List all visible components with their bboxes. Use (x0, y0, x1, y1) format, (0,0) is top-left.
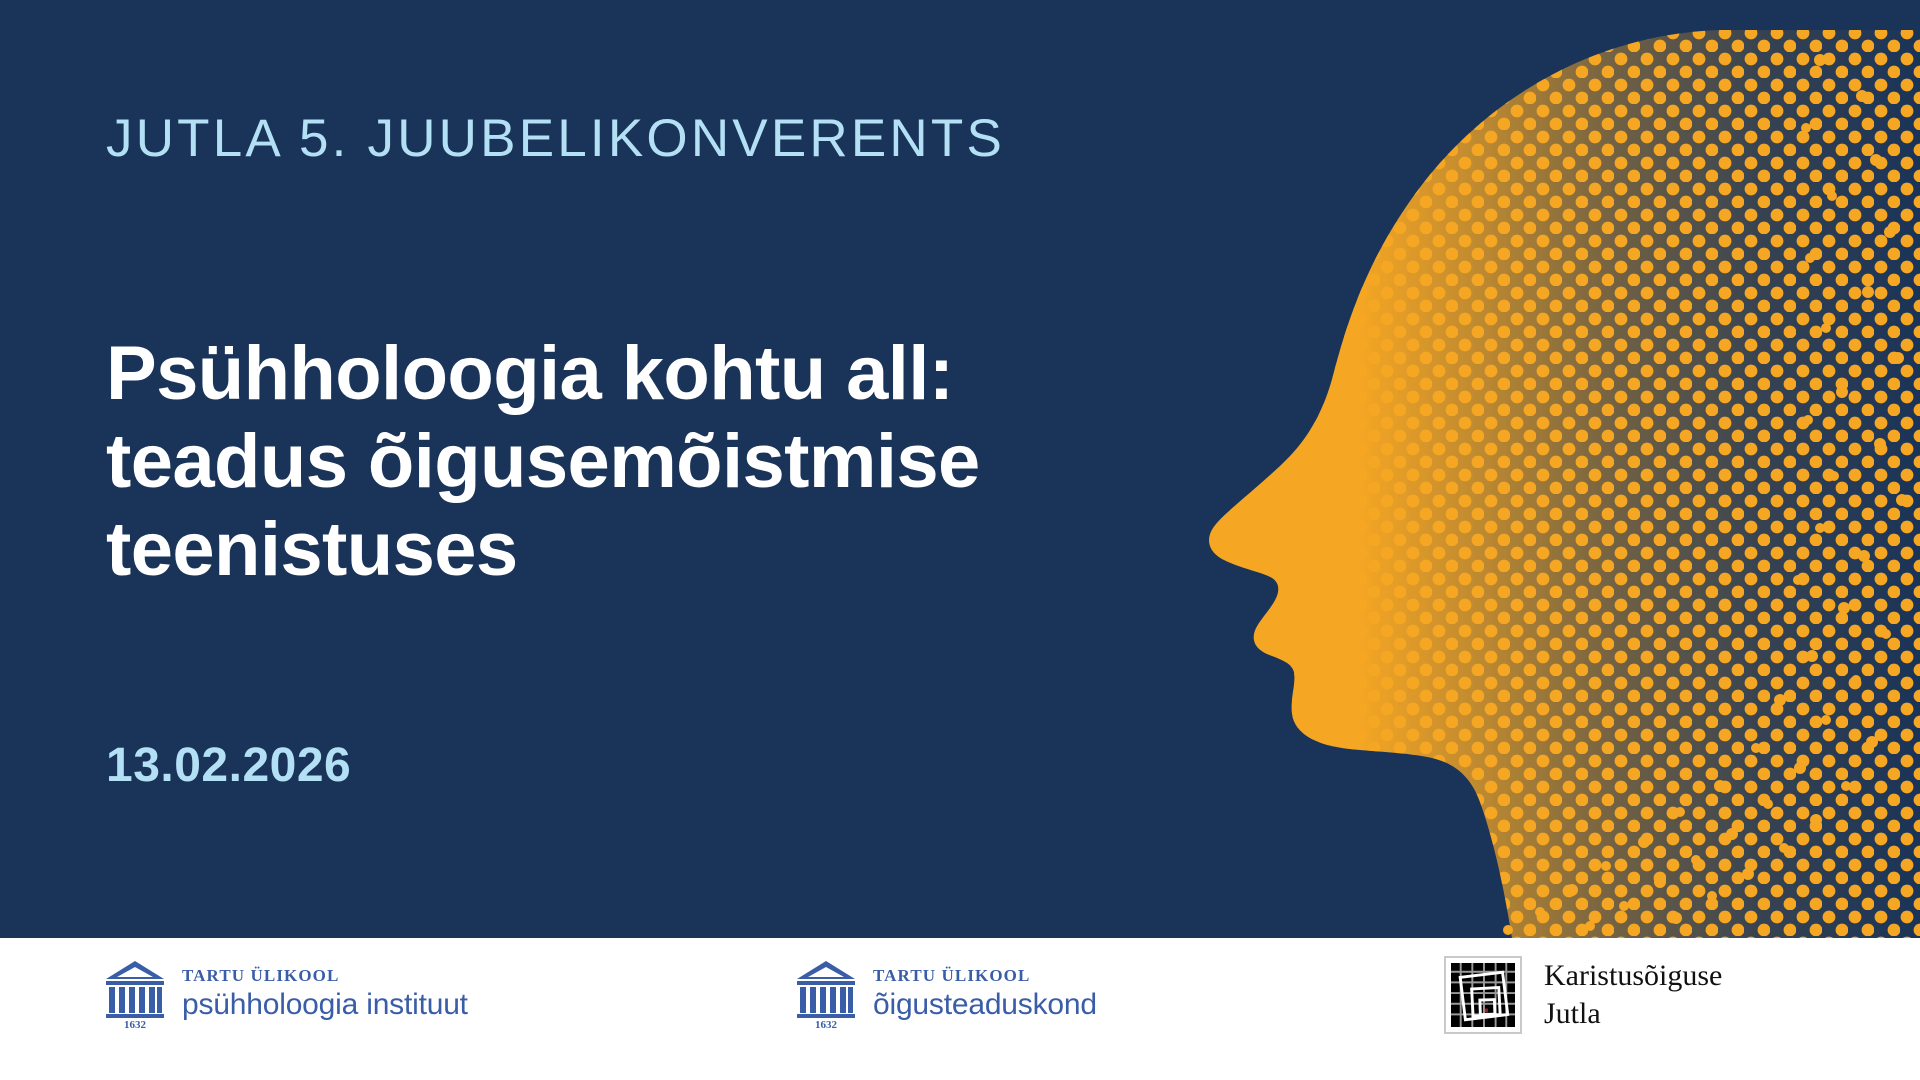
poster-title: Psühholoogia kohtu all: teadus õigusemõi… (106, 330, 1166, 594)
conference-poster: JUTLA 5. JUUBELIKONVERENTS Psühholoogia … (0, 0, 1920, 1080)
logo-karistusoiguse-jutla: Karistusõiguse Jutla (1444, 956, 1722, 1034)
poster-kicker: JUTLA 5. JUUBELIKONVERENTS (106, 112, 1005, 165)
logo-tartu-law: 1632 TARTU ÜLIKOOL õigusteaduskond (795, 958, 1097, 1030)
logo-founding-year: 1632 (815, 1019, 838, 1030)
logo-text-block: TARTU ÜLIKOOL õigusteaduskond (873, 966, 1097, 1022)
poster-date: 13.02.2026 (106, 742, 351, 790)
logo-text-block: TARTU ÜLIKOOL psühholoogia instituut (182, 966, 468, 1022)
logo-tartu-psychology: 1632 TARTU ÜLIKOOL psühholoogia instituu… (104, 958, 468, 1030)
poster-title-line-2: teadus õigusemõistmise (106, 418, 1166, 506)
logo-university-name: TARTU ÜLIKOOL (182, 966, 468, 986)
dissolving-head-illustration (1120, 0, 1920, 938)
poster-title-line-1: Psühholoogia kohtu all: (106, 330, 1166, 418)
tartu-university-building-icon: 1632 (104, 958, 166, 1030)
tartu-university-building-icon: 1632 (795, 958, 857, 1030)
jutla-nested-squares-icon (1444, 956, 1522, 1034)
jutla-text-block: Karistusõiguse Jutla (1544, 957, 1722, 1034)
poster-title-line-3: teenistuses (106, 506, 1166, 594)
logo-unit-name: õigusteaduskond (873, 988, 1097, 1023)
jutla-line-2: Jutla (1544, 995, 1722, 1033)
poster-text-column: JUTLA 5. JUUBELIKONVERENTS Psühholoogia … (106, 0, 1206, 938)
jutla-line-1: Karistusõiguse (1544, 957, 1722, 995)
logo-unit-name: psühholoogia instituut (182, 988, 468, 1023)
logo-university-name: TARTU ÜLIKOOL (873, 966, 1097, 986)
footer-logo-bar: 1632 TARTU ÜLIKOOL psühholoogia instituu… (0, 938, 1920, 1080)
logo-founding-year: 1632 (124, 1019, 147, 1030)
